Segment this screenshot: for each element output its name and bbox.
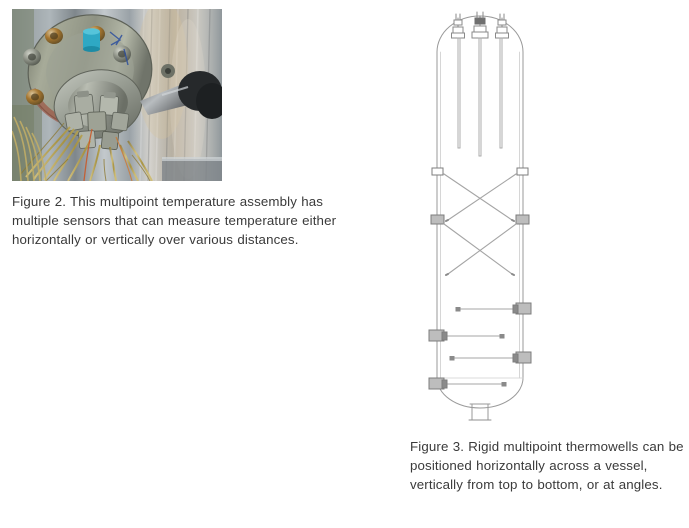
multipoint-temperature-assembly-photo xyxy=(12,9,222,181)
figure-2-caption: Figure 2. This multipoint temperature as… xyxy=(12,192,348,250)
cyan-cap xyxy=(83,28,100,52)
figure-3-drawing xyxy=(420,8,540,428)
figure-2-photo xyxy=(12,9,222,181)
figure-3-block xyxy=(410,8,682,428)
figure-2-block: Figure 2. This multipoint temperature as… xyxy=(12,9,352,250)
figure-3-caption: Figure 3. Rigid multipoint thermowells c… xyxy=(410,437,686,495)
rigid-multipoint-thermowell-vessel-diagram xyxy=(420,8,540,428)
